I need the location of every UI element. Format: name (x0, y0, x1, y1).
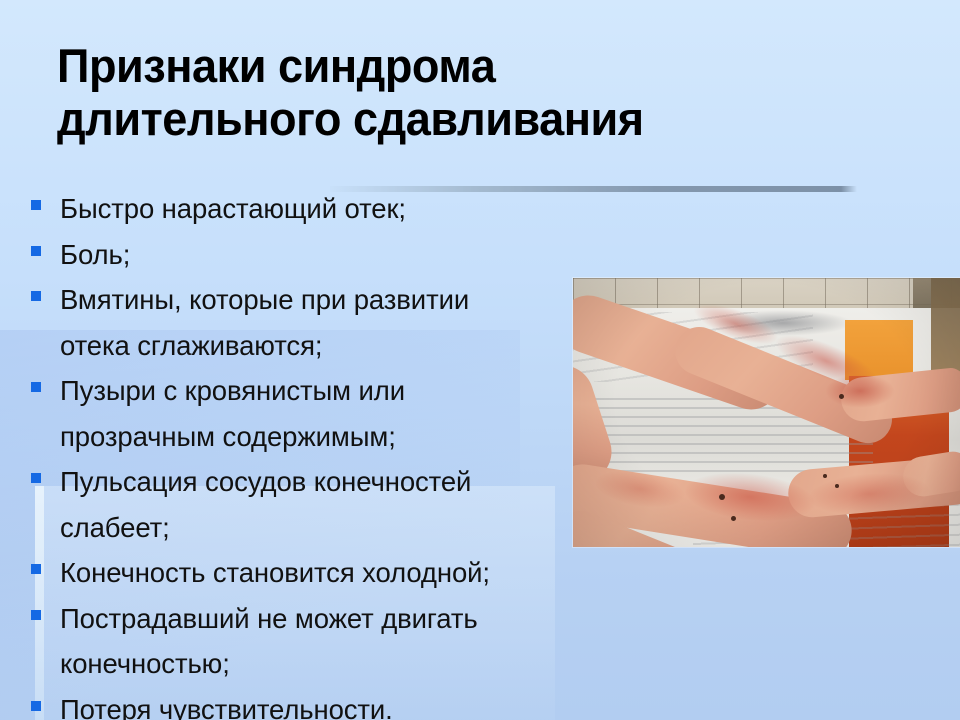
page-title: Признаки синдрома длительного сдавливани… (57, 39, 883, 145)
photo-vignette (573, 278, 960, 547)
list-item-label: Потеря чувствительности. (60, 687, 575, 720)
bullet-square-icon (31, 246, 41, 256)
list-item-label: Быстро нарастающий отек; (60, 186, 575, 232)
list-item: Пузыри с кровянистым или прозрачным соде… (0, 368, 575, 459)
list-item: Пульсация сосудов конечностей слабеет; (0, 459, 575, 550)
bullet-square-icon (31, 382, 41, 392)
list-item-label: Пульсация сосудов конечностей слабеет; (60, 459, 575, 550)
list-item-label: Вмятины, которые при развитии отека сгла… (60, 277, 575, 368)
list-item-label: Конечность становится холодной; (60, 550, 575, 596)
list-item: Вмятины, которые при развитии отека сгла… (0, 277, 575, 368)
bullet-square-icon (31, 564, 41, 574)
list-item: Конечность становится холодной; (0, 550, 575, 596)
list-item: Пострадавший не может двигать конечность… (0, 596, 575, 687)
list-item: Боль; (0, 232, 575, 278)
list-item: Быстро нарастающий отек; (0, 186, 575, 232)
clinical-photo (573, 278, 960, 547)
bullet-square-icon (31, 701, 41, 711)
list-item-label: Пострадавший не может двигать конечность… (60, 596, 575, 687)
bullet-square-icon (31, 610, 41, 620)
list-item: Потеря чувствительности. (0, 687, 575, 720)
list-item-label: Боль; (60, 232, 575, 278)
bullet-square-icon (31, 200, 41, 210)
symptom-list: Быстро нарастающий отек;Боль;Вмятины, ко… (0, 186, 575, 720)
list-item-label: Пузыри с кровянистым или прозрачным соде… (60, 368, 575, 459)
presentation-slide: Признаки синдрома длительного сдавливани… (0, 0, 960, 720)
bullet-square-icon (31, 291, 41, 301)
bullet-square-icon (31, 473, 41, 483)
